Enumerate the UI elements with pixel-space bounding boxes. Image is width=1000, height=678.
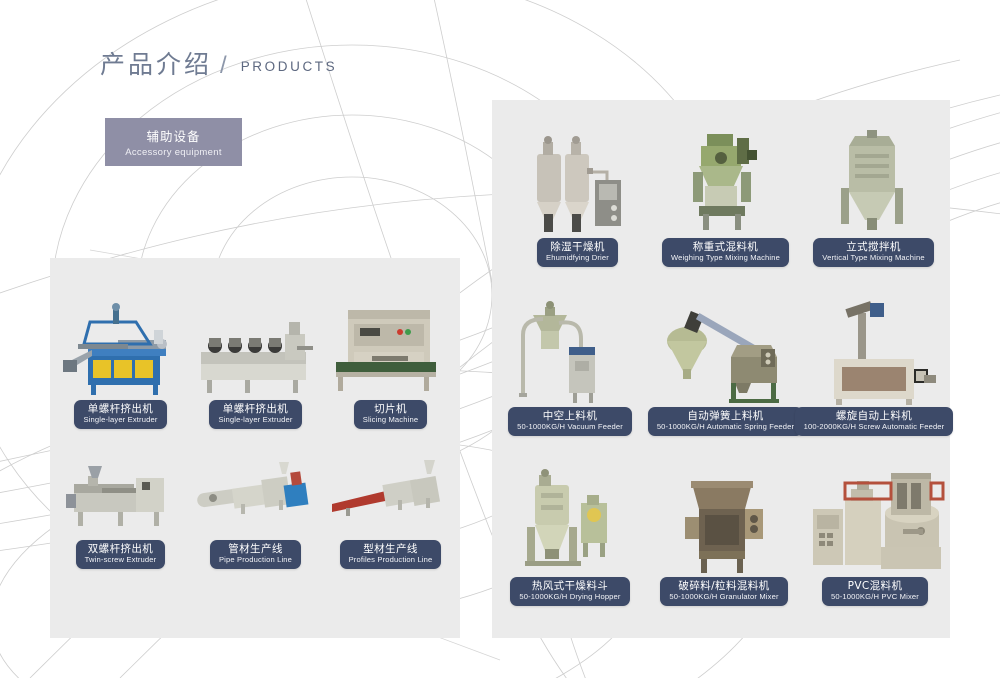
twin-screw-extruder-icon xyxy=(58,448,183,540)
product-label-cn: 热风式干燥料斗 xyxy=(519,580,620,592)
screw-automatic-feeder-icon xyxy=(800,295,948,407)
product-item[interactable]: PVC混料机 50-1000KG/H PVC Mixer xyxy=(805,465,945,606)
dehumidifying-drier-icon xyxy=(515,128,640,238)
product-label-en: Slicing Machine xyxy=(363,416,418,425)
product-item[interactable]: 螺旋自动上料机 100-2000KG/H Screw Automatic Fee… xyxy=(800,295,948,436)
product-label-cn: 中空上料机 xyxy=(517,410,623,422)
product-label-cn: PVC混料机 xyxy=(831,580,919,592)
product-label-cn: 称重式混料机 xyxy=(671,241,780,253)
product-label-en: Ehumidfying Drier xyxy=(546,254,609,263)
product-item[interactable]: 管材生产线 Pipe Production Line xyxy=(193,448,318,569)
product-badge[interactable]: 热风式干燥料斗 50-1000KG/H Drying Hopper xyxy=(510,577,629,606)
category-tab-accessory-equipment[interactable]: 辅助设备 Accessory equipment xyxy=(105,118,242,166)
product-item[interactable]: 中空上料机 50-1000KG/H Vacuum Feeder xyxy=(505,295,635,436)
product-badge[interactable]: 双螺杆挤出机 Twin-screw Extruder xyxy=(76,540,166,569)
pipe-production-line-icon xyxy=(193,448,318,540)
product-label-en: 50-1000KG/H Vacuum Feeder xyxy=(517,423,623,432)
page-title-en: PRODUCTS xyxy=(241,59,338,74)
product-badge[interactable]: 自动弹簧上料机 50-1000KG/H Automatic Spring Fee… xyxy=(648,407,803,436)
product-badge[interactable]: 破碎料/粒料混料机 50-1000KG/H Granulator Mixer xyxy=(660,577,787,606)
product-label-cn: 单螺杆挤出机 xyxy=(83,403,157,415)
product-label-cn: 除湿干燥机 xyxy=(546,241,609,253)
product-label-cn: 立式搅拌机 xyxy=(822,241,924,253)
product-badge[interactable]: 单螺杆挤出机 Single-layer Extruder xyxy=(209,400,301,429)
product-item[interactable]: 破碎料/粒料混料机 50-1000KG/H Granulator Mixer xyxy=(655,465,793,606)
product-item[interactable]: 切片机 Slicing Machine xyxy=(328,300,453,429)
vacuum-feeder-icon xyxy=(505,295,635,407)
weighing-mixing-machine-icon xyxy=(663,128,788,238)
product-item[interactable]: 双螺杆挤出机 Twin-screw Extruder xyxy=(58,448,183,569)
product-badge[interactable]: 单螺杆挤出机 Single-layer Extruder xyxy=(74,400,166,429)
product-item[interactable]: 单螺杆挤出机 Single-layer Extruder xyxy=(193,300,318,429)
product-label-en: Twin-screw Extruder xyxy=(85,556,157,565)
product-item[interactable]: 称重式混料机 Weighing Type Mixing Machine xyxy=(663,128,788,267)
product-label-cn: 单螺杆挤出机 xyxy=(218,403,292,415)
product-label-cn: 切片机 xyxy=(363,403,418,415)
pvc-mixer-icon xyxy=(805,465,945,577)
product-badge[interactable]: PVC混料机 50-1000KG/H PVC Mixer xyxy=(822,577,928,606)
drying-hopper-icon xyxy=(505,465,635,577)
product-label-en: 50-1000KG/H Granulator Mixer xyxy=(669,593,778,602)
profiles-production-line-icon xyxy=(328,448,453,540)
product-label-cn: 双螺杆挤出机 xyxy=(85,543,157,555)
product-item[interactable]: 立式搅拌机 Vertical Type Mixing Machine xyxy=(811,128,936,267)
product-badge[interactable]: 称重式混料机 Weighing Type Mixing Machine xyxy=(662,238,789,267)
product-item[interactable]: 除湿干燥机 Ehumidfying Drier xyxy=(515,128,640,267)
spring-feeder-icon xyxy=(653,295,798,407)
product-item[interactable]: 型材生产线 Profiles Production Line xyxy=(328,448,453,569)
extruder-blue-machine-icon xyxy=(58,300,183,400)
product-badge[interactable]: 螺旋自动上料机 100-2000KG/H Screw Automatic Fee… xyxy=(795,407,954,436)
product-badge[interactable]: 管材生产线 Pipe Production Line xyxy=(210,540,301,569)
product-label-en: Vertical Type Mixing Machine xyxy=(822,254,924,263)
product-item[interactable]: 自动弹簧上料机 50-1000KG/H Automatic Spring Fee… xyxy=(653,295,798,436)
page-title: 产品介绍 / PRODUCTS xyxy=(100,45,337,81)
product-label-en: Profiles Production Line xyxy=(349,556,433,565)
title-separator: / xyxy=(220,52,227,80)
product-label-en: Single-layer Extruder xyxy=(218,416,292,425)
category-tab-label-en: Accessory equipment xyxy=(125,147,222,158)
product-label-en: Single-layer Extruder xyxy=(83,416,157,425)
product-label-cn: 破碎料/粒料混料机 xyxy=(669,580,778,592)
product-label-en: 100-2000KG/H Screw Automatic Feeder xyxy=(804,423,945,432)
product-label-cn: 型材生产线 xyxy=(349,543,433,555)
product-label-cn: 管材生产线 xyxy=(219,543,292,555)
vertical-mixing-machine-icon xyxy=(811,128,936,238)
category-tab-label-cn: 辅助设备 xyxy=(146,126,200,145)
product-label-en: 50-1000KG/H PVC Mixer xyxy=(831,593,919,602)
extruder-roller-line-icon xyxy=(193,300,318,400)
product-label-en: 50-1000KG/H Automatic Spring Feeder xyxy=(657,423,794,432)
product-label-cn: 螺旋自动上料机 xyxy=(804,410,945,422)
page-title-cn: 产品介绍 xyxy=(100,45,212,81)
product-badge[interactable]: 型材生产线 Profiles Production Line xyxy=(340,540,442,569)
product-label-en: 50-1000KG/H Drying Hopper xyxy=(519,593,620,602)
granulator-mixer-icon xyxy=(655,465,793,577)
product-label-en: Pipe Production Line xyxy=(219,556,292,565)
product-catalog-page: 产品介绍 / PRODUCTS 辅助设备 Accessory equipment xyxy=(0,0,1000,678)
product-badge[interactable]: 除湿干燥机 Ehumidfying Drier xyxy=(537,238,618,267)
product-item[interactable]: 热风式干燥料斗 50-1000KG/H Drying Hopper xyxy=(505,465,635,606)
product-label-en: Weighing Type Mixing Machine xyxy=(671,254,780,263)
product-badge[interactable]: 中空上料机 50-1000KG/H Vacuum Feeder xyxy=(508,407,632,436)
product-badge[interactable]: 立式搅拌机 Vertical Type Mixing Machine xyxy=(813,238,933,267)
product-badge[interactable]: 切片机 Slicing Machine xyxy=(354,400,427,429)
slicing-machine-icon xyxy=(328,300,453,400)
product-item[interactable]: 单螺杆挤出机 Single-layer Extruder xyxy=(58,300,183,429)
product-label-cn: 自动弹簧上料机 xyxy=(657,410,794,422)
